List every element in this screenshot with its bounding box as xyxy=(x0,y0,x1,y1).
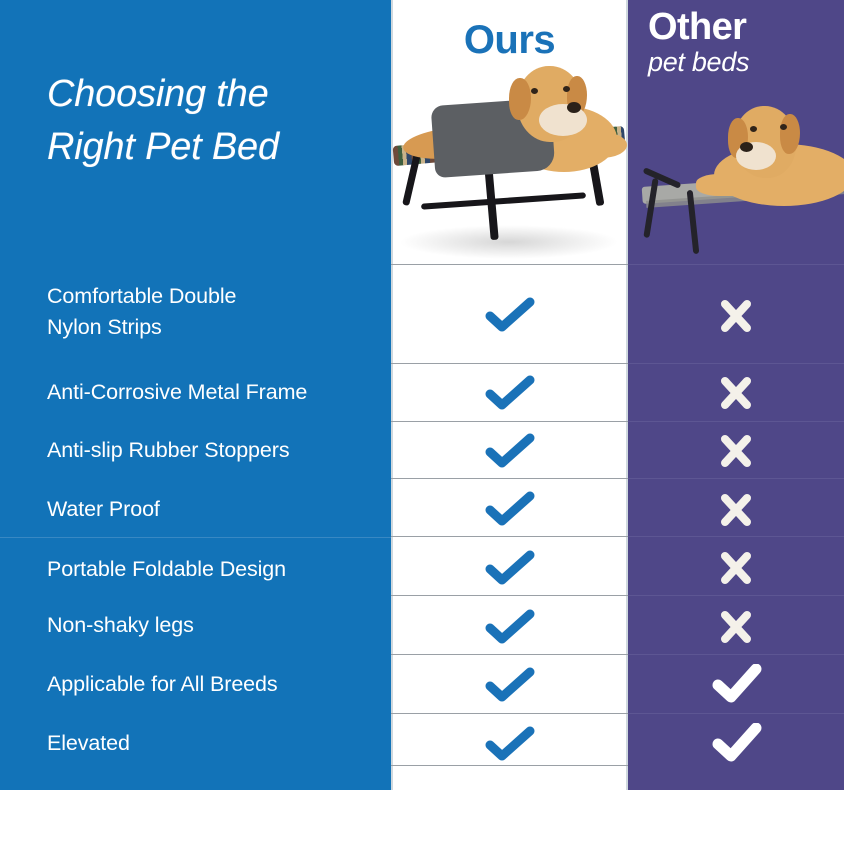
row-divider-other xyxy=(628,478,844,479)
photo-ours-product xyxy=(391,40,628,262)
other-mark-3 xyxy=(706,433,766,469)
other-mark-7 xyxy=(706,664,766,704)
dog-eye-right-ours xyxy=(563,86,570,92)
row-divider-other xyxy=(628,264,844,265)
dog-eye-left-ours xyxy=(531,88,538,94)
column-header-other-line-2: pet beds xyxy=(648,46,844,78)
row-divider-other xyxy=(628,713,844,714)
dog-eye-right-other xyxy=(780,124,787,130)
check-icon xyxy=(706,723,766,763)
feature-label-8: Elevated xyxy=(47,729,377,757)
row-divider-other xyxy=(628,595,844,596)
ours-mark-3 xyxy=(480,432,540,470)
other-mark-1 xyxy=(706,298,766,334)
row-divider-other xyxy=(628,363,844,364)
ours-mark-6 xyxy=(480,608,540,646)
row-divider-other xyxy=(628,536,844,537)
check-icon xyxy=(480,296,540,334)
dog-eye-left-other xyxy=(750,126,757,132)
check-icon xyxy=(480,490,540,528)
row-divider xyxy=(391,478,628,479)
column-header-other: Other pet beds xyxy=(648,8,844,78)
dog-nose-ours xyxy=(567,102,581,113)
check-icon xyxy=(480,608,540,646)
other-mark-8 xyxy=(706,723,766,763)
dog-nose-other xyxy=(740,142,753,152)
feature-label-3: Anti-slip Rubber Stoppers xyxy=(47,436,377,464)
row-divider xyxy=(391,595,628,596)
feature-label-7: Applicable for All Breeds xyxy=(47,670,377,698)
page-title-line-1: Choosing the xyxy=(47,68,377,121)
other-mark-5 xyxy=(706,550,766,586)
cross-icon xyxy=(706,375,766,411)
check-icon xyxy=(480,549,540,587)
check-icon xyxy=(480,374,540,412)
feature-label-1-line-1: Comfortable Double xyxy=(47,281,377,312)
row-divider-other xyxy=(628,654,844,655)
cross-icon xyxy=(706,492,766,528)
bottom-white-strip xyxy=(0,790,844,844)
cross-icon xyxy=(706,609,766,645)
row-divider xyxy=(391,363,628,364)
check-icon xyxy=(480,666,540,704)
dog-paws-ours xyxy=(575,132,627,158)
ours-mark-4 xyxy=(480,490,540,528)
comparison-infographic: Choosing the Right Pet Bed xyxy=(0,0,844,844)
feature-label-6: Non-shaky legs xyxy=(47,611,377,639)
page-title: Choosing the Right Pet Bed xyxy=(47,68,377,174)
feature-label-5: Portable Foldable Design xyxy=(47,555,377,583)
other-mark-6 xyxy=(706,609,766,645)
row-divider xyxy=(391,264,628,265)
row-divider xyxy=(391,765,628,766)
check-icon xyxy=(480,432,540,470)
row-divider xyxy=(391,421,628,422)
ours-mark-1 xyxy=(480,296,540,334)
column-header-other-line-1: Other xyxy=(648,8,844,46)
cross-icon xyxy=(706,550,766,586)
row-divider xyxy=(391,713,628,714)
feature-label-4: Water Proof xyxy=(47,495,377,523)
row-divider xyxy=(391,536,628,537)
feature-label-1: Comfortable Double Nylon Strips xyxy=(47,281,377,343)
dog-paws-other xyxy=(696,174,754,196)
bed-cross-brace xyxy=(421,192,586,209)
ours-mark-5 xyxy=(480,549,540,587)
column-header-ours: Ours xyxy=(391,18,628,63)
cross-icon xyxy=(706,433,766,469)
row-divider xyxy=(391,654,628,655)
ours-mark-7 xyxy=(480,666,540,704)
feature-label-1-line-2: Nylon Strips xyxy=(47,312,377,343)
ours-mark-2 xyxy=(480,374,540,412)
feature-label-2: Anti-Corrosive Metal Frame xyxy=(47,378,377,406)
photo-other-product xyxy=(628,58,844,262)
panel-seam xyxy=(0,537,391,538)
other-mark-4 xyxy=(706,492,766,528)
check-icon xyxy=(480,725,540,763)
cross-icon xyxy=(706,298,766,334)
ours-mark-8 xyxy=(480,725,540,763)
row-divider-other xyxy=(628,421,844,422)
page-title-line-2: Right Pet Bed xyxy=(47,121,377,174)
other-mark-2 xyxy=(706,375,766,411)
photo-ours-shadow xyxy=(399,225,619,259)
check-icon xyxy=(706,664,766,704)
